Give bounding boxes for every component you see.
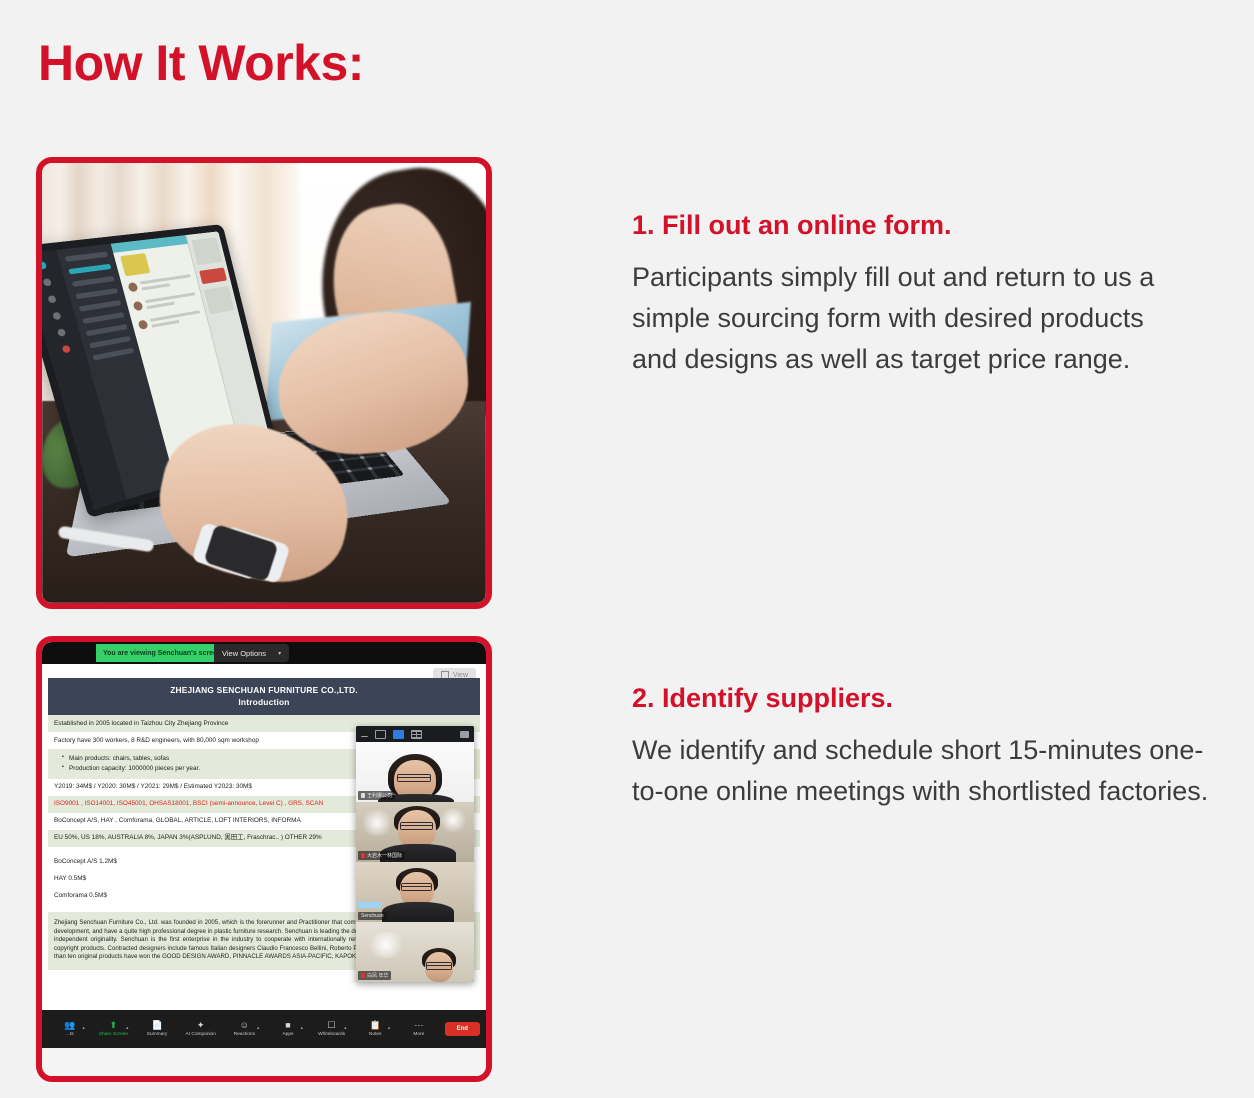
chat-header-bar <box>110 235 188 253</box>
toolbar-label: Share Screen <box>99 1032 128 1037</box>
microphone-icon <box>361 793 365 798</box>
toolbar-label: More <box>413 1032 424 1037</box>
toolbar-label: Whiteboards <box>318 1032 345 1037</box>
rail-icon-teams <box>47 295 57 303</box>
toolbar-label: Apps <box>282 1032 293 1037</box>
zoom-meeting-screenshot: You are viewing Senchuan's screen View O… <box>42 642 486 1076</box>
toolbar-reactions-button[interactable]: ▲ ☺ Reactions <box>223 1021 267 1037</box>
glasses <box>397 774 431 782</box>
participant-tile[interactable]: 白凤 年华 <box>356 922 474 982</box>
rail-icon-calendar <box>52 312 62 321</box>
ai-companion-icon: ✦ <box>197 1021 205 1030</box>
chat-list-row <box>64 252 107 262</box>
avatar <box>127 283 138 293</box>
share-status-banner: You are viewing Senchuan's screen <box>96 644 228 662</box>
gallery-view-icon[interactable] <box>411 730 422 739</box>
chat-list-row <box>89 336 131 349</box>
participant-name: Senchuan <box>361 913 384 919</box>
view-options-button[interactable]: View Options ▾ <box>214 644 289 662</box>
chevron-up-icon[interactable]: ▲ <box>300 1025 304 1030</box>
step-2-title: 2. Identify suppliers. <box>632 682 1232 714</box>
participant-name: 大岩木一林国际 <box>367 852 402 859</box>
message-text <box>145 293 198 313</box>
slide-header: ZHEJIANG SENCHUAN FURNITURE CO.,LTD. Int… <box>48 678 480 715</box>
participant-tile[interactable]: 大岩木一林国际 <box>356 802 474 862</box>
participant-name: 王利娜公司 <box>367 792 392 799</box>
participant-name: 白凤 年华 <box>367 972 388 979</box>
rail-icon-chat <box>42 279 52 287</box>
participant-name-badge: Senchuan <box>358 912 387 920</box>
toolbar-participants-button[interactable]: ▲ 👥 ...ts <box>48 1021 92 1037</box>
slide-company-name: ZHEJIANG SENCHUAN FURNITURE CO.,LTD. <box>52 684 476 696</box>
summary-icon: 📄 <box>151 1021 162 1030</box>
glasses <box>426 962 452 970</box>
chat-list-row <box>85 324 127 336</box>
photo-laptop-person <box>42 163 486 603</box>
chat-list-row-selected <box>68 264 111 275</box>
message-text <box>140 275 194 294</box>
chat-list-row <box>78 301 121 313</box>
toolbar-whiteboards-button[interactable]: ▲ ☐ Whiteboards <box>310 1021 354 1037</box>
zoom-meeting-toolbar: ▲ 👥 ...ts ▲ ⬆ Share Screen 📄 Summary ✦ A… <box>42 1010 486 1048</box>
chevron-down-icon: ▾ <box>278 650 281 657</box>
photo-scene <box>42 163 486 603</box>
chat-list-row <box>92 348 134 361</box>
chat-attachment-thumb <box>120 254 150 277</box>
step-1-title: 1. Fill out an online form. <box>632 209 1177 241</box>
step-1-body: Participants simply fill out and return … <box>632 257 1177 380</box>
participant-name-badge: 大岩木一林国际 <box>358 851 405 860</box>
toolbar-more-button[interactable]: ⋯ More <box>397 1021 441 1037</box>
view-options-label: View Options <box>222 649 266 658</box>
chevron-up-icon[interactable]: ▲ <box>387 1025 391 1030</box>
participant-name-badge: 白凤 年华 <box>358 971 391 980</box>
zoom-window-footer <box>42 1048 486 1076</box>
chat-list-row <box>75 288 118 299</box>
slide-subtitle: Introduction <box>52 696 476 708</box>
filmstrip-toolbar <box>356 726 474 742</box>
photo-card-online-form <box>36 157 492 609</box>
side-card-alert <box>199 268 227 285</box>
side-card <box>204 286 234 314</box>
chat-list-row <box>71 276 114 287</box>
strip-view-icon[interactable] <box>393 730 404 739</box>
microphone-muted-icon <box>361 853 365 858</box>
toolbar-label: AI Companion <box>185 1032 215 1037</box>
toolbar-label: Summary <box>147 1032 168 1037</box>
light-glare <box>438 808 468 832</box>
step-2-body: We identify and schedule short 15-minute… <box>632 730 1232 812</box>
toolbar-apps-button[interactable]: ▲ ■ Apps <box>266 1021 310 1037</box>
light-glare <box>366 932 406 958</box>
chat-message <box>127 275 193 296</box>
photo-card-identify-suppliers: You are viewing Senchuan's screen View O… <box>36 636 492 1082</box>
avatar <box>132 301 143 311</box>
participant-filmstrip: 王利娜公司 大岩木一林国际 <box>356 726 474 982</box>
whiteboard-icon: ☐ <box>328 1021 336 1030</box>
glasses <box>400 822 433 830</box>
toolbar-label: ...ts <box>66 1032 74 1037</box>
chevron-up-icon[interactable]: ▲ <box>256 1025 260 1030</box>
chat-list-row <box>82 313 124 325</box>
light-glare <box>360 810 394 836</box>
rail-icon-calls <box>57 329 66 338</box>
zoom-window: You are viewing Senchuan's screen View O… <box>42 642 486 1076</box>
message-text <box>150 311 203 331</box>
speaker-view-icon[interactable] <box>460 731 469 738</box>
maximize-icon[interactable] <box>375 730 386 739</box>
toolbar-summary-button[interactable]: 📄 Summary <box>135 1021 179 1037</box>
rail-icon-activity <box>42 262 47 270</box>
end-meeting-button[interactable]: End <box>445 1022 480 1036</box>
reactions-icon: ☺ <box>240 1021 249 1030</box>
toolbar-label: Notes <box>369 1032 382 1037</box>
participants-icon: 👥 <box>64 1021 75 1030</box>
avatar <box>137 320 148 330</box>
rail-icon-files <box>61 345 70 354</box>
step-1: 1. Fill out an online form. Participants… <box>632 209 1177 380</box>
participant-tile[interactable]: 王利娜公司 <box>356 742 474 802</box>
apps-icon: ■ <box>285 1021 290 1030</box>
participant-name-badge: 王利娜公司 <box>358 791 395 800</box>
microphone-muted-icon <box>361 973 365 978</box>
notes-icon: 📋 <box>370 1021 381 1030</box>
torso <box>382 902 454 922</box>
side-card <box>192 238 223 266</box>
more-icon: ⋯ <box>414 1021 423 1030</box>
toolbar-label: Reactions <box>234 1032 255 1037</box>
page-title: How It Works: <box>38 36 364 91</box>
glasses <box>401 883 432 891</box>
step-2: 2. Identify suppliers. We identify and s… <box>632 682 1232 812</box>
toolbar-notes-button[interactable]: ▲ 📋 Notes <box>353 1021 397 1037</box>
share-screen-icon: ⬆ <box>110 1021 118 1030</box>
reaction-badge <box>358 902 382 908</box>
chevron-up-icon[interactable]: ▲ <box>82 1025 86 1030</box>
minimize-icon[interactable] <box>361 732 368 737</box>
chevron-up-icon[interactable]: ▲ <box>125 1025 129 1030</box>
toolbar-ai-companion-button[interactable]: ✦ AI Companion <box>179 1021 223 1037</box>
chevron-up-icon[interactable]: ▲ <box>343 1025 347 1030</box>
chat-message <box>137 311 202 334</box>
toolbar-share-screen-button[interactable]: ▲ ⬆ Share Screen <box>92 1021 136 1037</box>
participant-tile[interactable]: Senchuan <box>356 862 474 922</box>
